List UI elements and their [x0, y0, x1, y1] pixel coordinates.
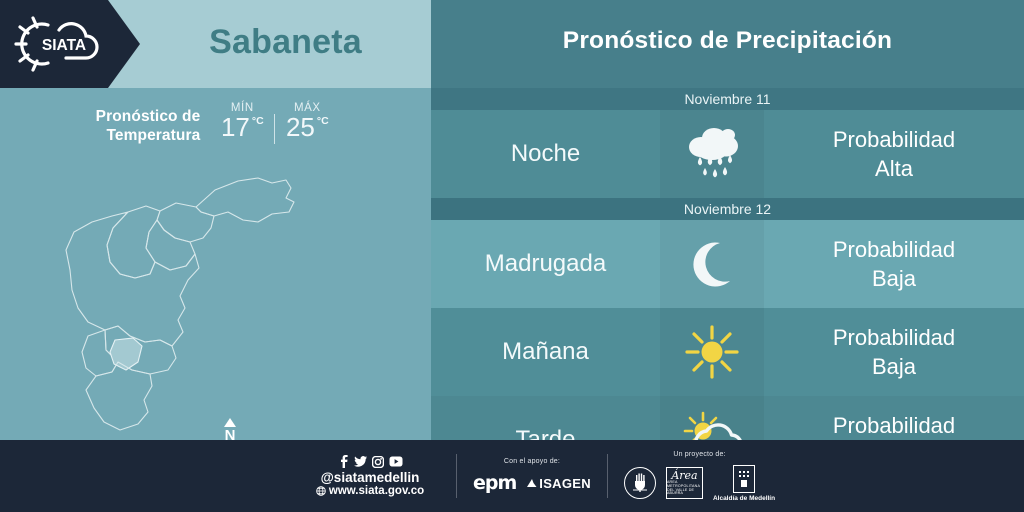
- globe-icon: [316, 486, 326, 496]
- siata-sun-cloud-logo: SIATA: [8, 11, 120, 77]
- siata-logo-badge: SIATA: [0, 0, 140, 88]
- probability-line2: Alta: [875, 154, 913, 183]
- right-panel: Pronóstico de Precipitación Noviembre 11…: [431, 0, 1024, 440]
- temperature-min: MÍN 17 °C: [214, 102, 270, 140]
- support-caption: Con el apoyo de:: [504, 458, 560, 465]
- siata-logo-text: SIATA: [42, 37, 86, 54]
- temperature-values: MÍN 17 °C MÁX 25 °C: [214, 102, 335, 144]
- footer: @siatamedellin www.siata.gov.co Con el a…: [0, 440, 1024, 512]
- map-municipality-girardota: [157, 203, 214, 242]
- left-header: SIATA Sabaneta: [0, 0, 431, 88]
- website-row[interactable]: www.siata.gov.co: [316, 485, 424, 497]
- precipitation-title: Pronóstico de Precipitación: [431, 0, 1024, 88]
- youtube-icon[interactable]: [389, 456, 403, 467]
- temperature-title: Pronóstico de Temperatura: [96, 102, 201, 145]
- alcaldia-label: Alcaldía de Medellín: [713, 495, 775, 502]
- seal-logo: [624, 467, 656, 499]
- rain-cloud-icon: [660, 110, 764, 198]
- support-group: Con el apoyo de: epm ISAGEN: [473, 458, 591, 494]
- twitter-icon[interactable]: [354, 455, 367, 468]
- temperature-max: MÁX 25 °C: [279, 102, 335, 140]
- alcaldia-mark-icon: [733, 465, 755, 493]
- probability-line1: Probabilidad: [833, 411, 955, 440]
- moon-glyph: [687, 239, 737, 289]
- website-url[interactable]: www.siata.gov.co: [329, 485, 424, 497]
- date-separator-first: Noviembre 11: [431, 88, 1024, 110]
- hand-seal-icon: [628, 471, 652, 495]
- left-panel: SIATA Sabaneta Pronóstico de Temperatura…: [0, 0, 431, 440]
- isagen-text: ISAGEN: [539, 476, 591, 491]
- probability-manana: Probabilidad Baja: [764, 308, 1024, 396]
- map-municipality-copacabana: [146, 220, 195, 270]
- moon-icon: [660, 220, 764, 308]
- min-value-row: 17 °C: [221, 114, 264, 140]
- project-caption: Un proyecto de:: [673, 451, 725, 458]
- map-municipality-sabaneta-highlight: [110, 338, 142, 370]
- footer-divider-1: [456, 454, 457, 498]
- max-unit: °C: [317, 115, 329, 127]
- map-municipality-caldas: [86, 362, 152, 430]
- sun-glyph: [684, 324, 740, 380]
- amva-subtitle: AREA METROPOLITANA DEL VALLE DE ABURRA: [667, 481, 702, 495]
- epm-logo: epm: [473, 472, 516, 494]
- forecast-row-noche[interactable]: Noche: [431, 110, 1024, 198]
- forecast-row-manana[interactable]: Mañana Probabili: [431, 308, 1024, 396]
- aburra-valley-map: N: [0, 150, 431, 440]
- sun-icon: [660, 308, 764, 396]
- support-logos: epm ISAGEN: [473, 472, 591, 494]
- temperature-title-line2: Temperatura: [96, 126, 201, 145]
- map-municipality-medellin: [66, 212, 199, 346]
- social-handle[interactable]: @siatamedellin: [321, 470, 420, 485]
- facebook-icon[interactable]: [338, 455, 349, 468]
- social-block: @siatamedellin www.siata.gov.co: [300, 455, 440, 497]
- project-logos: Área AREA METROPOLITANA DEL VALLE DE ABU…: [624, 465, 775, 502]
- probability-madrugada: Probabilidad Baja: [764, 220, 1024, 308]
- footer-divider-2: [607, 454, 608, 498]
- max-value-row: 25 °C: [286, 114, 329, 140]
- north-arrow-icon: [224, 418, 236, 427]
- city-name: Sabaneta: [140, 0, 431, 88]
- temperature-divider: [274, 114, 275, 144]
- temperature-title-line1: Pronóstico de: [96, 107, 201, 126]
- probability-line1: Probabilidad: [833, 235, 955, 264]
- area-metropolitana-logo: Área AREA METROPOLITANA DEL VALLE DE ABU…: [666, 467, 703, 499]
- period-label: Madrugada: [431, 220, 660, 308]
- alcaldia-logo: Alcaldía de Medellín: [713, 465, 775, 502]
- footer-content: @siatamedellin www.siata.gov.co Con el a…: [300, 440, 775, 512]
- probability-line1: Probabilidad: [833, 323, 955, 352]
- forecast-row-madrugada[interactable]: Madrugada Probabilidad Baja: [431, 220, 1024, 308]
- min-value: 17: [221, 114, 250, 140]
- social-icons: [338, 455, 403, 468]
- map-svg: [0, 150, 431, 440]
- rain-cloud-glyph: [681, 125, 743, 183]
- weather-forecast-infographic: SIATA Sabaneta Pronóstico de Temperatura…: [0, 0, 1024, 512]
- isagen-logo: ISAGEN: [526, 476, 591, 491]
- probability-line1: Probabilidad: [833, 125, 955, 154]
- probability-noche: Probabilidad Alta: [764, 110, 1024, 198]
- probability-line2: Baja: [872, 264, 916, 293]
- min-unit: °C: [252, 115, 264, 127]
- date-separator-second: Noviembre 12: [431, 198, 1024, 220]
- project-group: Un proyecto de:: [624, 451, 775, 502]
- instagram-icon[interactable]: [372, 456, 384, 468]
- probability-line2: Baja: [872, 352, 916, 381]
- period-label: Noche: [431, 110, 660, 198]
- isagen-mark-icon: [526, 478, 537, 489]
- period-label: Mañana: [431, 308, 660, 396]
- alcaldia-glyph: [737, 469, 751, 489]
- max-value: 25: [286, 114, 315, 140]
